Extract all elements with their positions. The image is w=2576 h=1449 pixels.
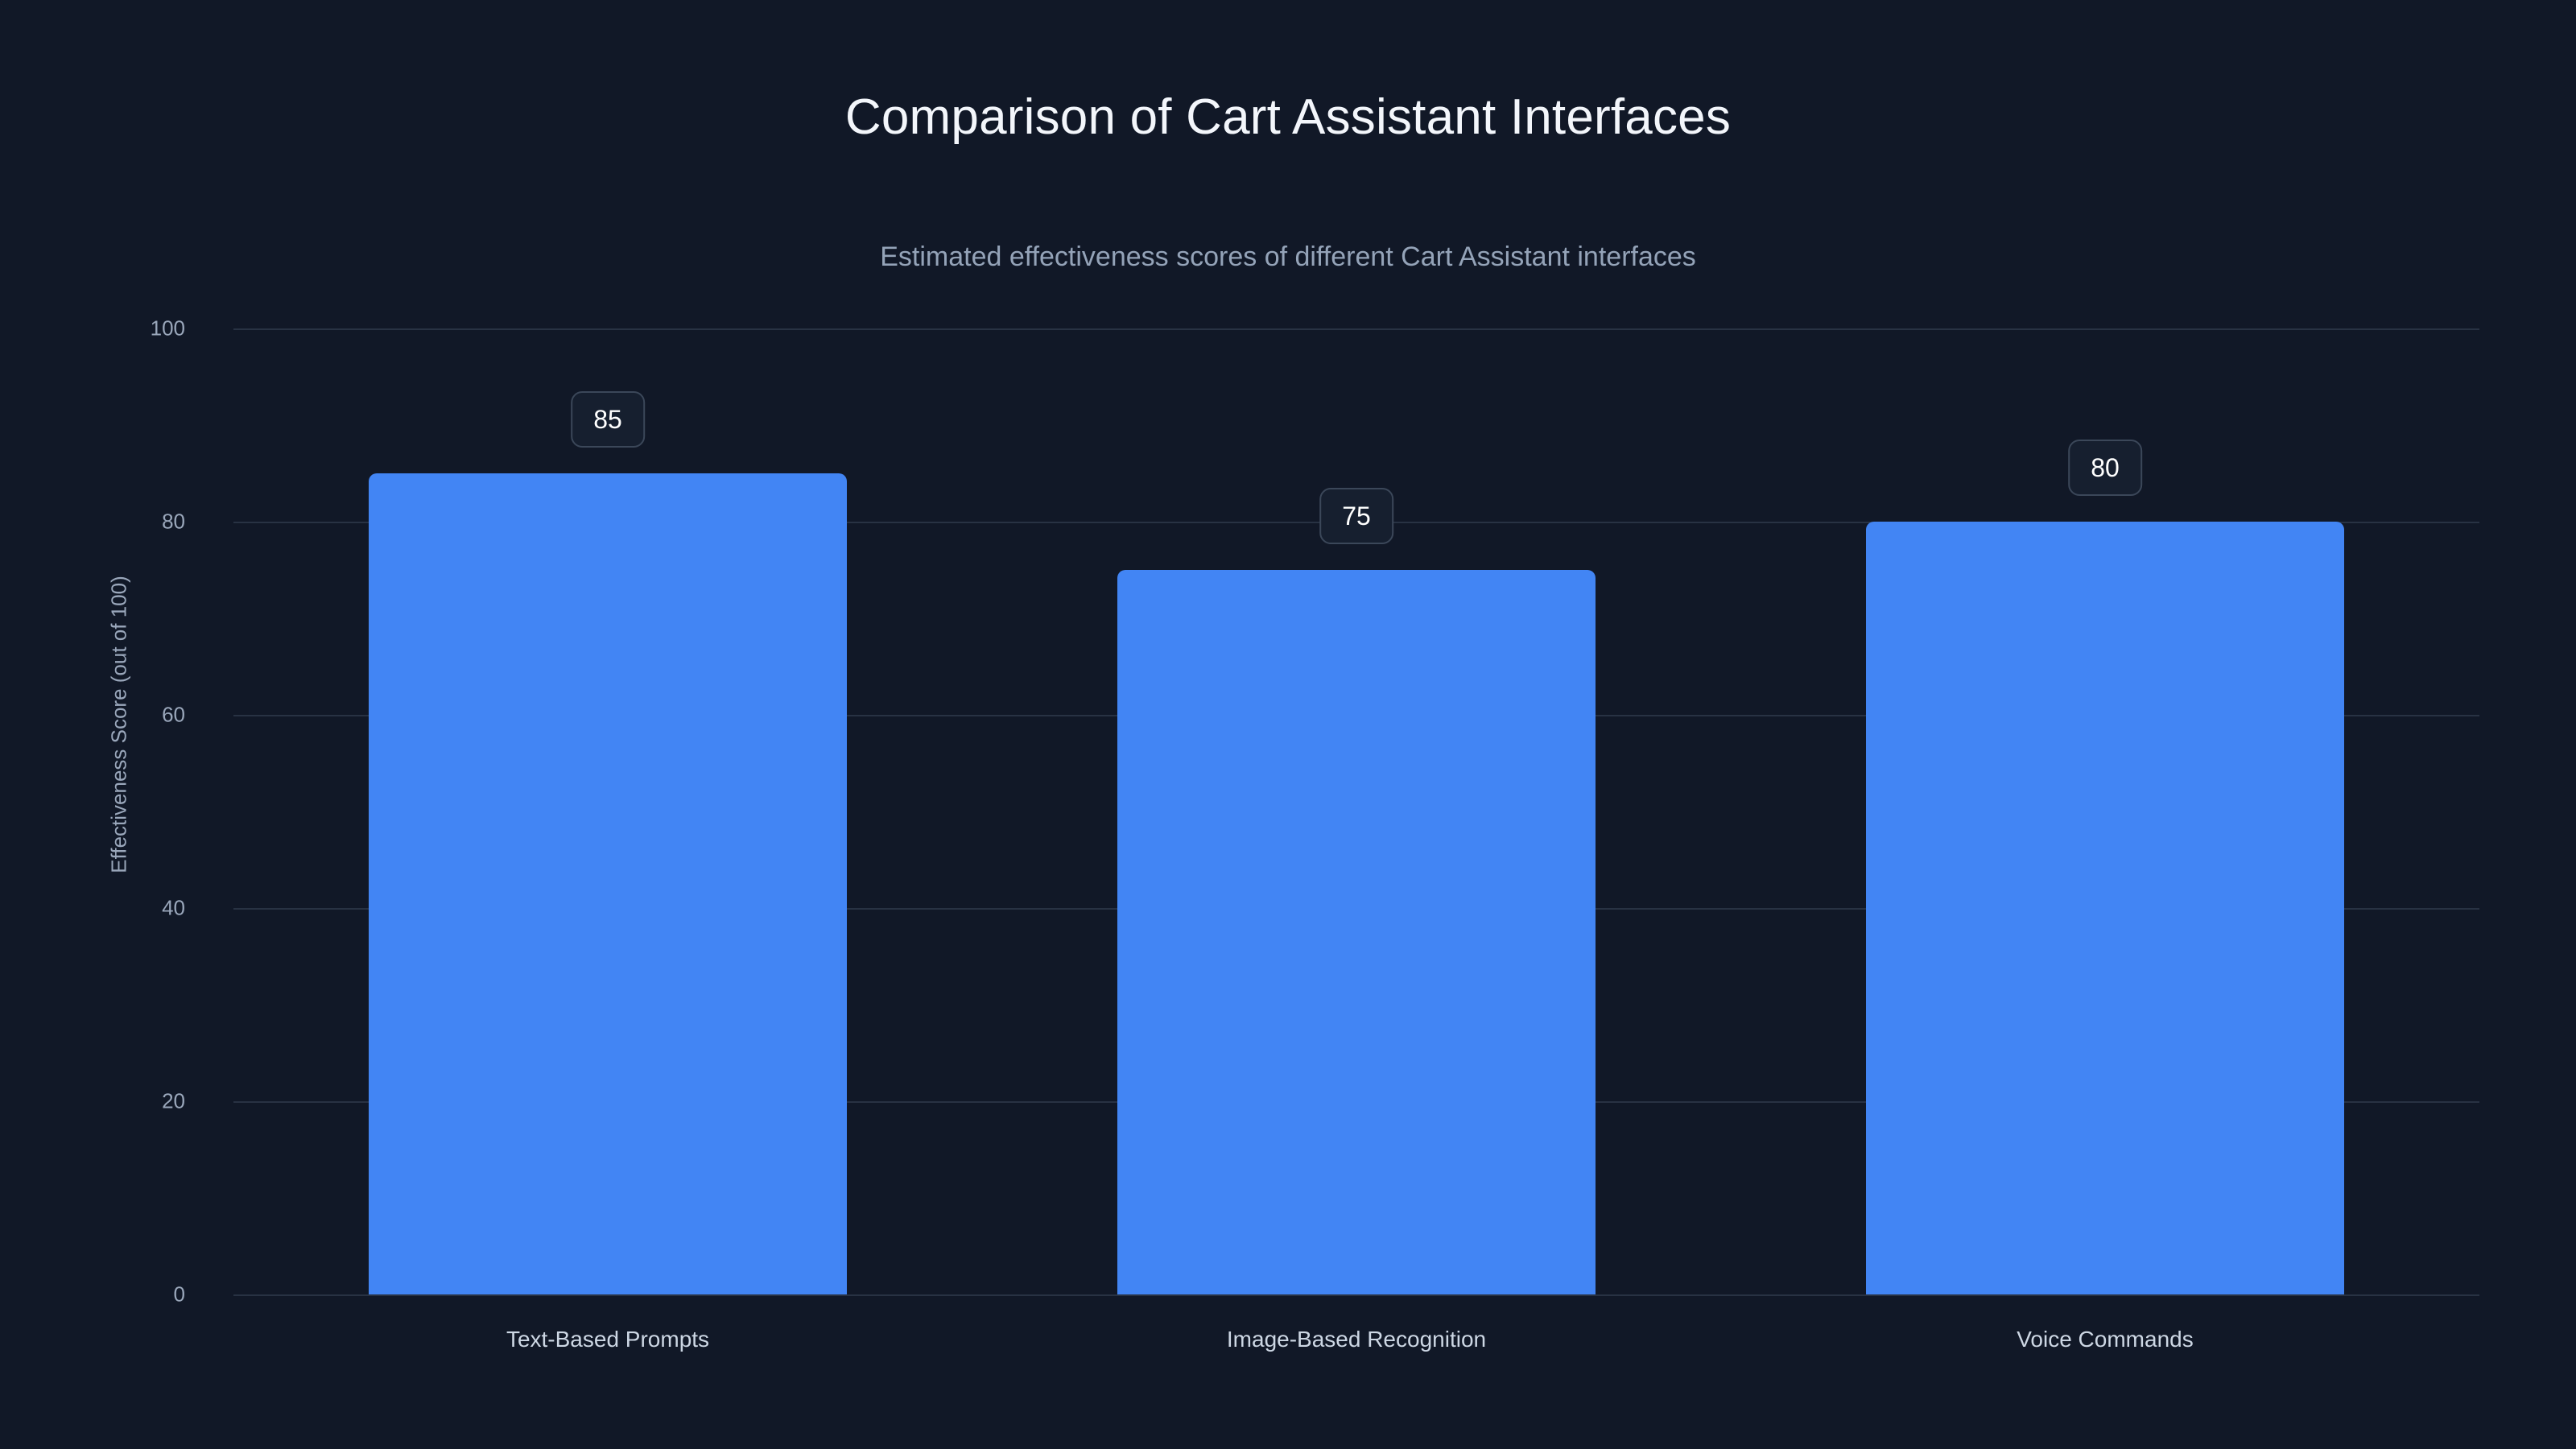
bar-value-badge: 80 <box>2068 440 2142 496</box>
y-axis-tick-label: 80 <box>24 510 185 535</box>
bar-value-badge: 75 <box>1319 488 1393 544</box>
x-axis-category-label: Voice Commands <box>2017 1327 2193 1352</box>
y-axis-tick-label: 60 <box>24 703 185 728</box>
bar[interactable] <box>369 473 847 1294</box>
y-axis-tick-label: 100 <box>24 316 185 341</box>
y-axis-tick-label: 40 <box>24 896 185 921</box>
gridline <box>233 1294 2479 1296</box>
y-axis-tick-label: 0 <box>24 1282 185 1307</box>
bar[interactable] <box>1117 570 1596 1294</box>
x-axis-category-label: Text-Based Prompts <box>506 1327 709 1352</box>
gridline <box>233 328 2479 330</box>
bar[interactable] <box>1866 522 2344 1294</box>
x-axis-category-label: Image-Based Recognition <box>1227 1327 1486 1352</box>
bar-value-badge: 85 <box>571 391 645 448</box>
plot-area <box>233 328 2479 1294</box>
bar-chart: Comparison of Cart Assistant Interfaces … <box>0 0 2576 1449</box>
y-axis-tick-label: 20 <box>24 1089 185 1114</box>
